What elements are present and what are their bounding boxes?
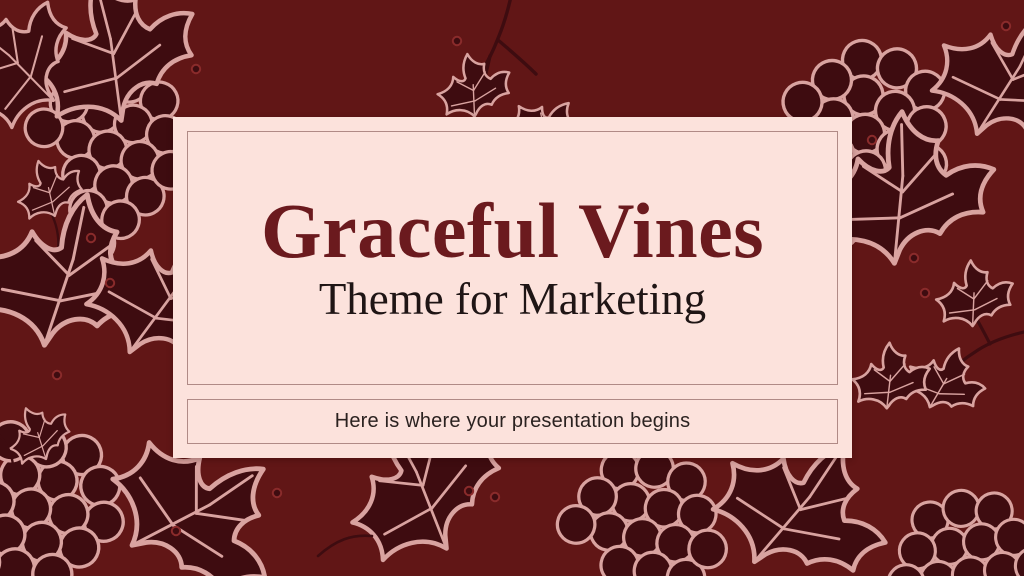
page-subtitle: Theme for Marketing [319,276,706,323]
title-card: Graceful Vines Theme for Marketing Here … [173,117,852,458]
page-title: Graceful Vines [261,192,764,270]
title-box: Graceful Vines Theme for Marketing [187,131,838,385]
caption-box: Here is where your presentation begins [187,399,838,444]
presentation-slide: Graceful Vines Theme for Marketing Here … [0,0,1024,576]
caption-text: Here is where your presentation begins [335,410,691,433]
